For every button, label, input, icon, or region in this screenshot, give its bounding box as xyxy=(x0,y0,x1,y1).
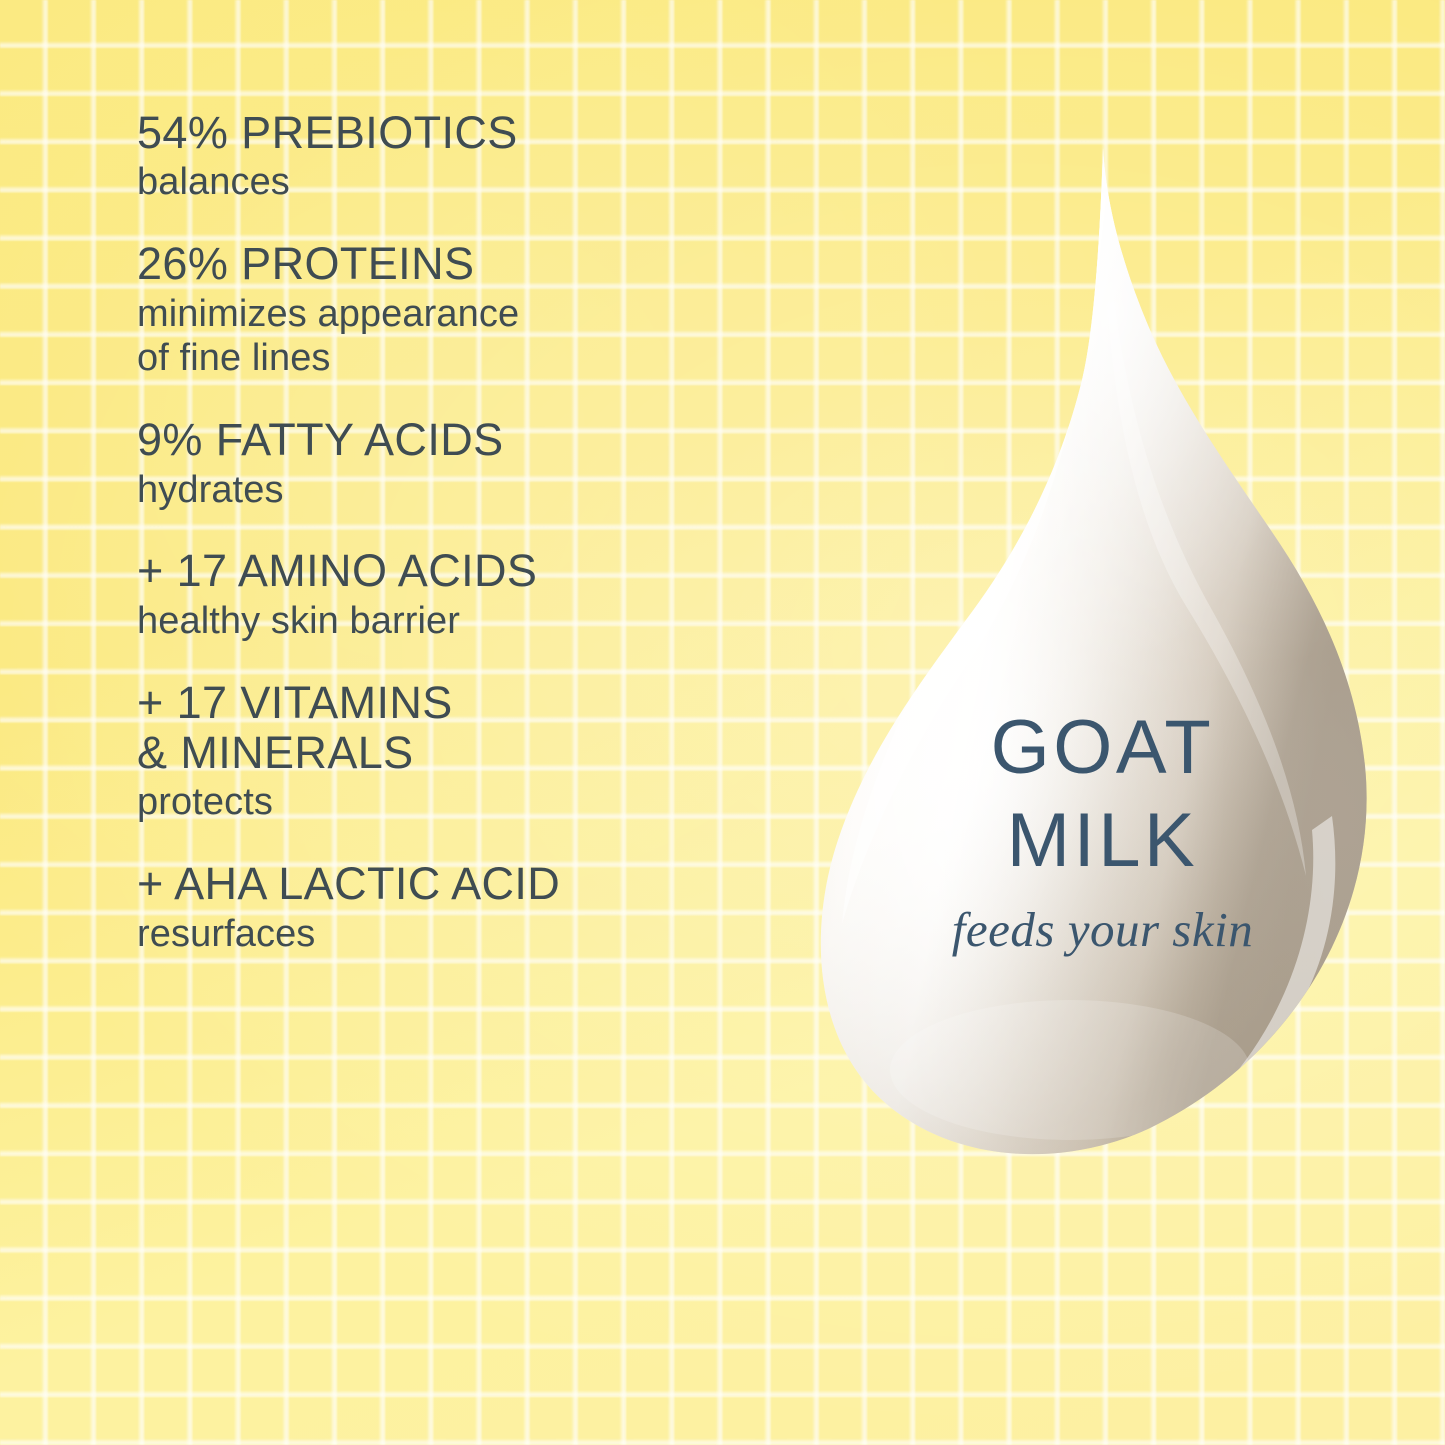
ingredient-benefit: healthy skin barrier xyxy=(137,599,837,644)
ingredient-benefit: hydrates xyxy=(137,468,837,513)
droplet-shape xyxy=(820,140,1385,1165)
ingredient-benefit: protects xyxy=(137,780,837,825)
ingredient-benefit: minimizes appearance of fine lines xyxy=(137,292,837,382)
ingredient-headline: 9% FATTY ACIDS xyxy=(137,415,837,465)
ingredient-item-vitamins-minerals: + 17 VITAMINS & MINERALS protects xyxy=(137,678,837,826)
ingredient-list: 54% PREBIOTICS balances 26% PROTEINS min… xyxy=(137,108,837,991)
milk-droplet-icon xyxy=(820,140,1385,1165)
ingredient-headline: + 17 VITAMINS & MINERALS xyxy=(137,678,837,779)
ingredient-headline: + AHA LACTIC ACID xyxy=(137,859,837,909)
product-ingredient-infographic: 54% PREBIOTICS balances 26% PROTEINS min… xyxy=(0,0,1445,1445)
ingredient-headline: 26% PROTEINS xyxy=(137,239,837,289)
ingredient-headline: 54% PREBIOTICS xyxy=(137,108,837,158)
ingredient-benefit: balances xyxy=(137,160,837,205)
ingredient-item-prebiotics: 54% PREBIOTICS balances xyxy=(137,108,837,205)
ingredient-item-amino-acids: + 17 AMINO ACIDS healthy skin barrier xyxy=(137,546,837,643)
ingredient-benefit: resurfaces xyxy=(137,912,837,957)
ingredient-headline: + 17 AMINO ACIDS xyxy=(137,546,837,596)
ingredient-item-aha-lactic-acid: + AHA LACTIC ACID resurfaces xyxy=(137,859,837,956)
ingredient-item-fatty-acids: 9% FATTY ACIDS hydrates xyxy=(137,415,837,512)
ingredient-item-proteins: 26% PROTEINS minimizes appearance of fin… xyxy=(137,239,837,381)
